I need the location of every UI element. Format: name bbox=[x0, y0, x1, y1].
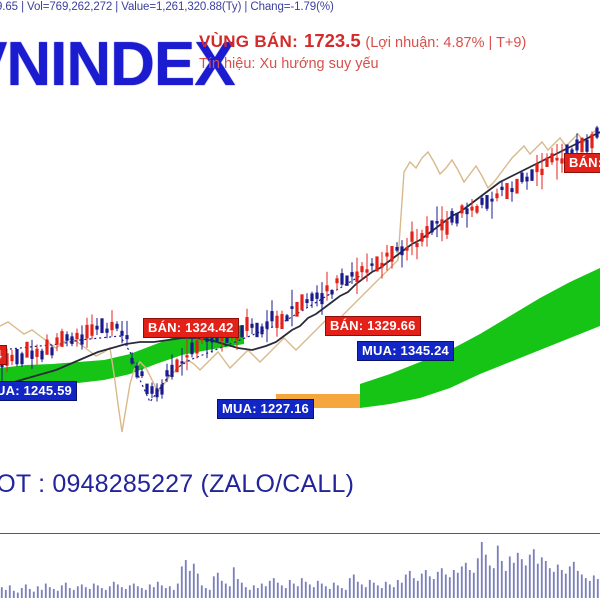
volume-bar bbox=[137, 586, 139, 598]
volume-bar bbox=[313, 587, 315, 598]
pane-divider bbox=[0, 533, 600, 534]
volume-bar bbox=[169, 586, 171, 598]
volume-bar bbox=[25, 584, 27, 598]
volume-bar bbox=[297, 586, 299, 598]
candle-body bbox=[90, 324, 93, 335]
candle-body bbox=[10, 355, 13, 361]
candle-body bbox=[330, 290, 333, 295]
volume-bar bbox=[357, 582, 359, 598]
candle-body bbox=[100, 318, 103, 333]
volume-bar bbox=[165, 588, 167, 598]
volume-bar bbox=[217, 573, 219, 598]
candle-body bbox=[410, 232, 413, 242]
candle-body bbox=[590, 134, 593, 148]
volume-bar bbox=[429, 576, 431, 598]
volume-bar bbox=[453, 570, 455, 598]
candle-body bbox=[385, 253, 388, 257]
volume-bar bbox=[509, 556, 511, 598]
stock-chart-screenshot: 9.65 | Vol=769,262,272 | Value=1,261,320… bbox=[0, 0, 600, 600]
volume-bar bbox=[489, 565, 491, 598]
volume-bar bbox=[125, 589, 127, 598]
candle-body bbox=[370, 263, 373, 265]
candle-body bbox=[255, 323, 258, 337]
candle-body bbox=[490, 199, 493, 202]
volume-bar bbox=[477, 558, 479, 598]
tag-sell-1329[interactable]: BÁN: 1329.66 bbox=[325, 316, 421, 336]
volume-bar bbox=[589, 581, 591, 598]
candle-body bbox=[545, 158, 548, 167]
candle-body bbox=[190, 342, 193, 354]
volume-bar bbox=[461, 566, 463, 598]
candle-body bbox=[325, 285, 328, 291]
candle-body bbox=[595, 127, 598, 137]
volume-bar bbox=[133, 584, 135, 598]
volume-bar bbox=[13, 591, 15, 598]
tag-sell-1324[interactable]: BÁN: 1324.42 bbox=[143, 318, 239, 338]
candle-body bbox=[125, 335, 128, 339]
candle-body bbox=[510, 188, 513, 192]
candle-body bbox=[35, 349, 38, 357]
volume-bar bbox=[233, 567, 235, 598]
volume-bar bbox=[325, 586, 327, 598]
candle-body bbox=[430, 221, 433, 233]
volume-bar bbox=[585, 578, 587, 598]
volume-bar bbox=[521, 559, 523, 598]
volume-bar bbox=[61, 585, 63, 598]
candle-body bbox=[415, 243, 418, 247]
volume-bar bbox=[337, 585, 339, 598]
volume-bar bbox=[433, 579, 435, 598]
candle-body bbox=[515, 179, 518, 194]
candle-body bbox=[420, 233, 423, 242]
volume-chart-svg bbox=[0, 536, 600, 600]
candle-body bbox=[70, 336, 73, 344]
candle-body bbox=[460, 205, 463, 213]
candle-body bbox=[365, 269, 368, 272]
candle-body bbox=[455, 213, 458, 223]
volume-bar bbox=[333, 583, 335, 598]
volume-bar bbox=[529, 555, 531, 598]
candle-body bbox=[500, 187, 503, 190]
candle-body bbox=[575, 140, 578, 151]
volume-bar bbox=[353, 575, 355, 598]
candle-body bbox=[390, 246, 393, 262]
volume-bar bbox=[437, 572, 439, 598]
volume-bar bbox=[209, 590, 211, 598]
candle-body bbox=[290, 306, 293, 309]
volume-bar bbox=[457, 573, 459, 598]
candle-body bbox=[105, 329, 108, 333]
candle-body bbox=[20, 353, 23, 364]
candle-body bbox=[145, 384, 148, 394]
candle-body bbox=[75, 333, 78, 339]
volume-bar bbox=[57, 591, 59, 598]
candle-body bbox=[270, 311, 273, 321]
candle-body bbox=[25, 342, 28, 358]
candle-body bbox=[310, 293, 313, 300]
sell-zone-banner: VÙNG BÁN:1723.5 (Lợi nhuận: 4.87% | T+9) bbox=[199, 30, 526, 54]
volume-bar bbox=[45, 584, 47, 598]
volume-bar bbox=[9, 585, 11, 598]
candle-body bbox=[465, 208, 468, 214]
volume-bar bbox=[257, 588, 259, 598]
candle-body bbox=[395, 247, 398, 251]
volume-bar bbox=[389, 584, 391, 598]
market-status-text: 9.65 | Vol=769,262,272 | Value=1,261,320… bbox=[0, 1, 334, 13]
volume-bar bbox=[181, 566, 183, 598]
candle-body bbox=[295, 302, 298, 317]
volume-bar bbox=[581, 575, 583, 598]
candle-body bbox=[65, 334, 68, 340]
candle-body bbox=[475, 206, 478, 213]
volume-bar bbox=[561, 570, 563, 598]
volume-bar bbox=[69, 588, 71, 598]
candle-body bbox=[535, 164, 538, 172]
volume-bar bbox=[201, 585, 203, 598]
candle-body bbox=[335, 278, 338, 283]
candle-body bbox=[50, 347, 53, 355]
candle-body bbox=[60, 331, 63, 347]
candle-body bbox=[305, 299, 308, 303]
volume-bar bbox=[385, 582, 387, 598]
volume-bar bbox=[101, 588, 103, 598]
volume-bar bbox=[193, 564, 195, 598]
volume-bar bbox=[37, 586, 39, 598]
candle-body bbox=[160, 384, 163, 394]
volume-bar bbox=[485, 555, 487, 598]
candle-body bbox=[45, 340, 48, 355]
candle-body bbox=[30, 351, 33, 359]
candle-body bbox=[175, 359, 178, 372]
volume-bar bbox=[205, 588, 207, 598]
volume-bar bbox=[1, 587, 3, 598]
tag-buy-1227[interactable]: MUA: 1227.16 bbox=[217, 399, 314, 419]
volume-bar bbox=[533, 549, 535, 598]
sell-zone-label: VÙNG BÁN: bbox=[199, 32, 298, 51]
volume-bar bbox=[221, 581, 223, 598]
volume-bar bbox=[113, 582, 115, 598]
candle-body bbox=[555, 158, 558, 161]
volume-bar bbox=[273, 578, 275, 598]
volume-bar bbox=[549, 568, 551, 598]
hotline-text: HOT : 0948285227 (ZALO/CALL) bbox=[0, 470, 354, 499]
volume-bar bbox=[409, 571, 411, 598]
candle-body bbox=[470, 207, 473, 211]
volume-bar bbox=[245, 587, 247, 598]
candle-body bbox=[345, 275, 348, 285]
candle-body bbox=[375, 256, 378, 271]
volume-bar bbox=[541, 557, 543, 598]
candle-body bbox=[280, 314, 283, 329]
volume-bar bbox=[493, 568, 495, 598]
candle-body bbox=[340, 273, 343, 284]
volume-bar bbox=[157, 582, 159, 598]
candle-body bbox=[450, 211, 453, 223]
signal-text: Tín hiệu: Xu hướng suy yếu bbox=[199, 56, 379, 72]
candle-body bbox=[185, 355, 188, 357]
volume-bar bbox=[285, 588, 287, 598]
volume-bar bbox=[413, 578, 415, 598]
candle-body bbox=[520, 173, 523, 182]
volume-bar bbox=[505, 571, 507, 598]
candle-body bbox=[265, 321, 268, 328]
candle-body bbox=[275, 316, 278, 328]
volume-bar bbox=[145, 590, 147, 598]
candle-body bbox=[495, 193, 498, 198]
candle-body bbox=[155, 388, 158, 397]
volume-bar bbox=[213, 576, 215, 598]
volume-bar bbox=[229, 586, 231, 598]
candle-body bbox=[485, 195, 488, 209]
volume-bar bbox=[265, 586, 267, 598]
volume-bar bbox=[309, 584, 311, 598]
volume-bar bbox=[41, 590, 43, 598]
volume-bar bbox=[117, 584, 119, 598]
volume-bar bbox=[85, 587, 87, 598]
candle-body bbox=[445, 221, 448, 235]
volume-bar bbox=[21, 588, 23, 598]
volume-bar bbox=[153, 587, 155, 598]
candle-body bbox=[530, 169, 533, 181]
volume-bar bbox=[81, 584, 83, 598]
volume-bar bbox=[369, 580, 371, 598]
volume-bar bbox=[345, 590, 347, 598]
candle-body bbox=[260, 326, 263, 334]
volume-bar bbox=[141, 588, 143, 598]
candle-body bbox=[150, 386, 153, 394]
price-chart-svg bbox=[0, 112, 600, 532]
candle-body bbox=[405, 247, 408, 251]
candle-body bbox=[85, 325, 88, 339]
volume-bar bbox=[281, 585, 283, 598]
volume-bar bbox=[277, 583, 279, 598]
volume-bar bbox=[525, 565, 527, 598]
volume-bar bbox=[77, 586, 79, 598]
candle-body bbox=[285, 315, 288, 321]
volume-bar bbox=[197, 574, 199, 598]
candle-body bbox=[525, 177, 528, 182]
volume-bar bbox=[553, 572, 555, 598]
volume-bar bbox=[317, 581, 319, 598]
volume-bar bbox=[293, 584, 295, 598]
volume-bar bbox=[449, 577, 451, 598]
volume-bar bbox=[397, 580, 399, 598]
volume-bar bbox=[269, 581, 271, 598]
volume-bar bbox=[29, 589, 31, 598]
candle-body bbox=[110, 322, 113, 330]
candle-body bbox=[580, 138, 583, 153]
volume-bar bbox=[109, 586, 111, 598]
volume-bar bbox=[289, 580, 291, 598]
market-status-bar: 9.65 | Vol=769,262,272 | Value=1,261,320… bbox=[0, 0, 600, 18]
volume-bar bbox=[597, 579, 599, 598]
volume-bar bbox=[5, 590, 7, 598]
candle-body bbox=[95, 326, 98, 330]
candle-body bbox=[130, 358, 133, 363]
volume-bar bbox=[405, 575, 407, 598]
volume-bar bbox=[341, 588, 343, 598]
price-chart-pane[interactable] bbox=[0, 112, 600, 532]
candle-body bbox=[240, 325, 243, 337]
volume-bar bbox=[365, 587, 367, 598]
tag-sell-partial-left[interactable]: 74 bbox=[0, 345, 7, 365]
volume-bar bbox=[105, 590, 107, 598]
candle-body bbox=[80, 334, 83, 344]
volume-bar bbox=[393, 587, 395, 598]
volume-bar bbox=[537, 564, 539, 598]
volume-bar bbox=[237, 579, 239, 598]
volume-bar bbox=[577, 571, 579, 598]
volume-bar bbox=[445, 575, 447, 598]
volume-bar bbox=[121, 587, 123, 598]
volume-bar bbox=[421, 574, 423, 598]
volume-bar bbox=[249, 590, 251, 598]
candle-body bbox=[135, 366, 138, 378]
candle-body bbox=[585, 140, 588, 152]
volume-bar bbox=[517, 553, 519, 598]
volume-bar bbox=[469, 570, 471, 598]
volume-bar bbox=[349, 578, 351, 598]
candle-body bbox=[480, 198, 483, 205]
candle-body bbox=[120, 331, 123, 336]
volume-bar bbox=[49, 587, 51, 598]
volume-bar bbox=[569, 566, 571, 598]
candle-body bbox=[360, 266, 363, 272]
candle-body bbox=[15, 349, 18, 364]
candle-body bbox=[425, 226, 428, 238]
candle-body bbox=[300, 294, 303, 310]
volume-bar bbox=[241, 583, 243, 598]
volume-bar bbox=[329, 589, 331, 598]
volume-bar bbox=[501, 561, 503, 598]
candle-body bbox=[250, 324, 253, 328]
volume-bar bbox=[17, 593, 19, 598]
volume-bar bbox=[565, 574, 567, 598]
tag-buy-1245[interactable]: MUA: 1245.59 bbox=[0, 381, 77, 401]
volume-bar bbox=[513, 563, 515, 598]
tag-sell-right[interactable]: BÁN: bbox=[564, 153, 600, 173]
volume-bar bbox=[401, 583, 403, 598]
volume-bar bbox=[373, 583, 375, 598]
volume-bar bbox=[97, 585, 99, 598]
sell-zone-value: 1723.5 bbox=[304, 30, 361, 51]
candle-body bbox=[315, 293, 318, 299]
candle-body bbox=[170, 365, 173, 377]
candle-body bbox=[205, 338, 208, 342]
candle-body bbox=[245, 317, 248, 331]
candle-body bbox=[540, 169, 543, 175]
volume-bar bbox=[301, 578, 303, 598]
volume-bar bbox=[253, 585, 255, 598]
candle-body bbox=[115, 324, 118, 329]
volume-bar bbox=[377, 585, 379, 598]
volume-bar bbox=[225, 584, 227, 598]
volume-bar bbox=[73, 590, 75, 598]
candle-body bbox=[320, 293, 323, 304]
candle-body bbox=[220, 338, 223, 341]
volume-bar bbox=[481, 542, 483, 598]
candle-body bbox=[165, 370, 168, 376]
volume-bar bbox=[465, 563, 467, 598]
volume-chart-pane[interactable] bbox=[0, 536, 600, 600]
volume-bar bbox=[53, 589, 55, 598]
volume-bar bbox=[361, 584, 363, 598]
volume-bar bbox=[189, 571, 191, 598]
candle-body bbox=[40, 351, 43, 360]
volume-bar bbox=[497, 546, 499, 598]
candle-body bbox=[380, 263, 383, 268]
volume-bar bbox=[177, 584, 179, 598]
tag-buy-1345[interactable]: MUA: 1345.24 bbox=[357, 341, 454, 361]
volume-bar bbox=[173, 590, 175, 598]
volume-bar bbox=[93, 584, 95, 598]
volume-bar bbox=[417, 581, 419, 598]
candle-body bbox=[195, 341, 198, 354]
candle-body bbox=[400, 246, 403, 255]
candle-body bbox=[505, 183, 508, 199]
volume-bar bbox=[149, 584, 151, 598]
candle-body bbox=[350, 272, 353, 276]
volume-bar bbox=[321, 584, 323, 598]
volume-bar bbox=[425, 570, 427, 598]
volume-bar bbox=[473, 573, 475, 598]
candle-body bbox=[440, 219, 443, 230]
volume-bar bbox=[305, 582, 307, 598]
volume-bar bbox=[261, 584, 263, 598]
volume-bar bbox=[441, 568, 443, 598]
volume-bar bbox=[545, 561, 547, 598]
volume-bar bbox=[573, 562, 575, 598]
sell-zone-meta: (Lợi nhuận: 4.87% | T+9) bbox=[365, 35, 526, 51]
candle-body bbox=[140, 371, 143, 376]
volume-bar bbox=[557, 565, 559, 598]
candle-body bbox=[55, 337, 58, 344]
candle-body bbox=[355, 271, 358, 281]
volume-bar bbox=[65, 583, 67, 598]
volume-bar bbox=[381, 588, 383, 598]
candle-body bbox=[550, 153, 553, 162]
volume-bar bbox=[89, 589, 91, 598]
volume-bar bbox=[33, 592, 35, 598]
volume-bar bbox=[593, 575, 595, 598]
volume-bar bbox=[129, 585, 131, 598]
volume-bar bbox=[185, 560, 187, 598]
candle-body bbox=[435, 221, 438, 224]
volume-bar bbox=[161, 585, 163, 598]
candle-body bbox=[180, 361, 183, 363]
